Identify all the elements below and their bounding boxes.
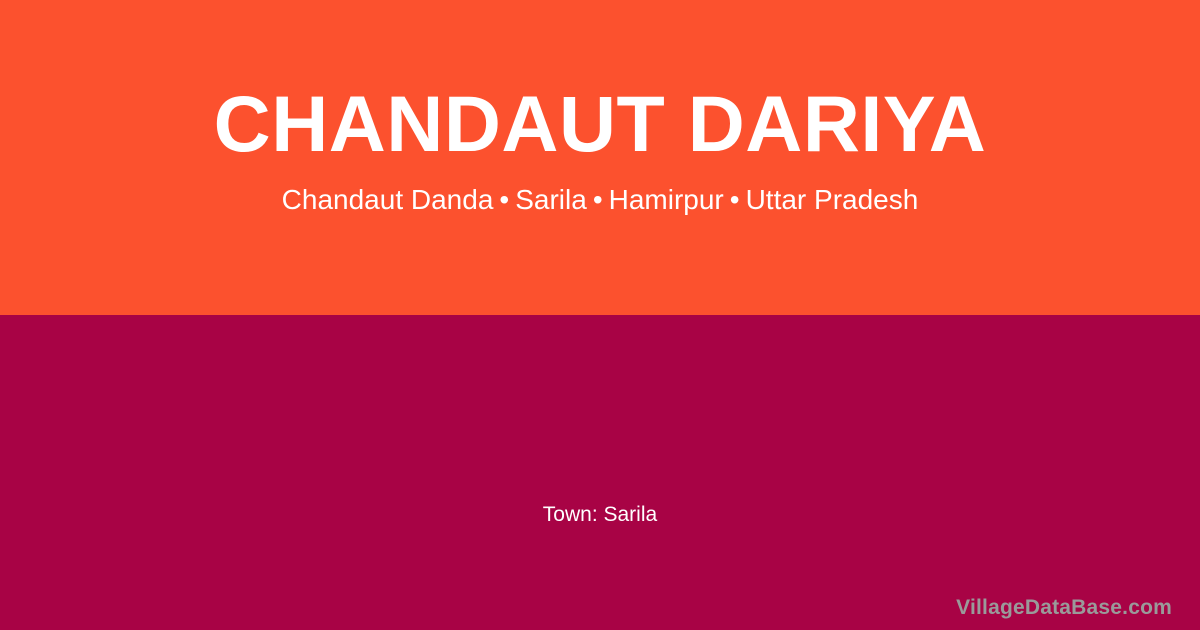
breadcrumb: Chandaut Danda•Sarila•Hamirpur•Uttar Pra… — [0, 182, 1200, 218]
breadcrumb-separator: • — [493, 184, 515, 215]
village-info-card: CHANDAUT DARIYA Chandaut Danda•Sarila•Ha… — [0, 0, 1200, 630]
detail-band: Town: Sarila VillageDataBase.com — [0, 315, 1200, 630]
breadcrumb-separator: • — [724, 184, 746, 215]
breadcrumb-item-state: Uttar Pradesh — [746, 184, 919, 215]
breadcrumb-separator: • — [587, 184, 609, 215]
breadcrumb-item-town: Sarila — [515, 184, 587, 215]
header-band: CHANDAUT DARIYA Chandaut Danda•Sarila•Ha… — [0, 0, 1200, 315]
breadcrumb-item-district: Hamirpur — [609, 184, 724, 215]
town-detail: Town: Sarila — [0, 501, 1200, 528]
breadcrumb-item-village: Chandaut Danda — [282, 184, 494, 215]
site-watermark: VillageDataBase.com — [956, 596, 1172, 620]
page-title: CHANDAUT DARIYA — [0, 84, 1200, 163]
